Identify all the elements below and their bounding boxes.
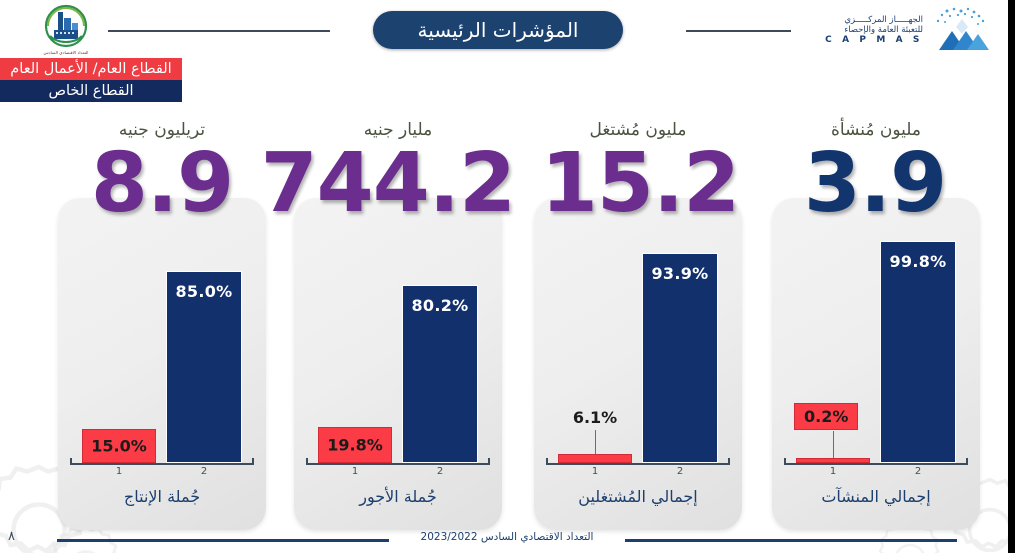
bar-label-private-sector: 85.0% [167, 282, 241, 301]
axis-tick-2: 2 [898, 466, 938, 477]
bar-label-public-sector: 19.8% [319, 436, 391, 455]
legend-item-public-sector: القطاع العام/ الأعمال العام [0, 58, 182, 80]
bar-public-sector: 19.8% [318, 427, 392, 463]
slide-header: التعداد الاقتصادي السادس المؤشرات الرئيس… [0, 0, 1015, 62]
kpi-value-wages: 744.2 [285, 143, 515, 225]
footer-rule-right [625, 539, 957, 542]
bar-label-private-sector: 99.8% [881, 252, 955, 271]
census-logo-icon [28, 2, 104, 52]
slide-right-edge [1008, 0, 1015, 553]
chart-axis [546, 463, 730, 465]
page-title: المؤشرات الرئيسية [373, 11, 623, 49]
legend: القطاع العام/ الأعمال العام القطاع الخاص [0, 58, 182, 102]
kpi-caption-workers: إجمالي المُشتغلين [534, 487, 742, 506]
axis-tick-1: 1 [575, 466, 615, 477]
mini-bar-chart-production: 15.0% 85.0% 1 2 [70, 240, 254, 465]
kpi-card-workers: 6.1% 93.9% 1 2 إجمالي المُشتغلين [534, 198, 742, 530]
bar-label-private-sector: 93.9% [643, 264, 717, 283]
bar-label-public-sector: 6.1% [556, 408, 634, 427]
kpi-card-establishments: 0.2% 99.8% 1 2 إجمالي المنشآت [772, 198, 980, 530]
bar-public-sector [558, 454, 632, 463]
bar-label-public-sector: 0.2% [794, 403, 858, 430]
kpi-value-establishments: 3.9 [760, 143, 990, 225]
legend-label-public-sector: القطاع العام/ الأعمال العام [10, 61, 171, 77]
bar-private-sector: 85.0% [166, 271, 242, 463]
kpi-card-wages: 19.8% 80.2% 1 2 جُملة الأجور [294, 198, 502, 530]
capmas-wordmark: الجهـــــاز المركـــــزي للتعبئة العامة … [825, 12, 923, 45]
kpi-caption-establishments: إجمالي المنشآت [772, 487, 980, 506]
header-rule-right [686, 30, 791, 32]
header-rule-left [108, 30, 330, 32]
bar-private-sector: 99.8% [880, 241, 956, 463]
bar-private-sector: 80.2% [402, 285, 478, 463]
footer-text: التعداد الاقتصادي السادس 2023/2022 [389, 531, 625, 543]
axis-tick-1: 1 [99, 466, 139, 477]
chart-axis [306, 463, 490, 465]
axis-tick-2: 2 [660, 466, 700, 477]
capmas-mountains-icon [929, 6, 995, 52]
mini-bar-chart-wages: 19.8% 80.2% 1 2 [306, 240, 490, 465]
page-number: ٨ [8, 529, 15, 544]
bar-private-sector: 93.9% [642, 253, 718, 463]
footer-rule-left [57, 539, 389, 542]
mini-bar-chart-workers: 6.1% 93.9% 1 2 [546, 240, 730, 465]
axis-tick-1: 1 [335, 466, 375, 477]
axis-tick-1: 1 [813, 466, 853, 477]
label-leader-line [833, 431, 834, 458]
kpi-value-workers: 15.2 [525, 143, 755, 225]
chart-axis [784, 463, 968, 465]
slide-canvas: التعداد الاقتصادي السادس المؤشرات الرئيس… [0, 0, 1015, 553]
kpi-card-production: 15.0% 85.0% 1 2 جُملة الإنتاج [58, 198, 266, 530]
bar-label-public-sector: 15.0% [83, 437, 155, 456]
mini-bar-chart-establishments: 0.2% 99.8% 1 2 [784, 240, 968, 465]
kpi-value-production: 8.9 [47, 143, 277, 225]
capmas-mark-icon [929, 6, 995, 52]
page-title-text: المؤشرات الرئيسية [418, 18, 579, 42]
legend-item-private-sector: القطاع الخاص [0, 80, 182, 102]
bar-label-private-sector: 80.2% [403, 296, 477, 315]
label-leader-line [595, 430, 596, 454]
economic-census-emblem: التعداد الاقتصادي السادس [28, 2, 104, 54]
capmas-logo: الجهـــــاز المركـــــزي للتعبئة العامة … [820, 4, 995, 54]
capmas-line-3: C A P M A S [825, 35, 923, 45]
bar-public-sector: 15.0% [82, 429, 156, 463]
legend-label-private-sector: القطاع الخاص [48, 83, 133, 99]
axis-tick-2: 2 [184, 466, 224, 477]
emblem-caption: التعداد الاقتصادي السادس [28, 50, 104, 55]
kpi-caption-wages: جُملة الأجور [294, 487, 502, 506]
kpi-caption-production: جُملة الإنتاج [58, 487, 266, 506]
chart-axis [70, 463, 254, 465]
capmas-line-2: للتعبئة العامة والإحصاء [825, 26, 923, 36]
axis-tick-2: 2 [420, 466, 460, 477]
slide-footer: ٨ التعداد الاقتصادي السادس 2023/2022 [0, 523, 1015, 553]
